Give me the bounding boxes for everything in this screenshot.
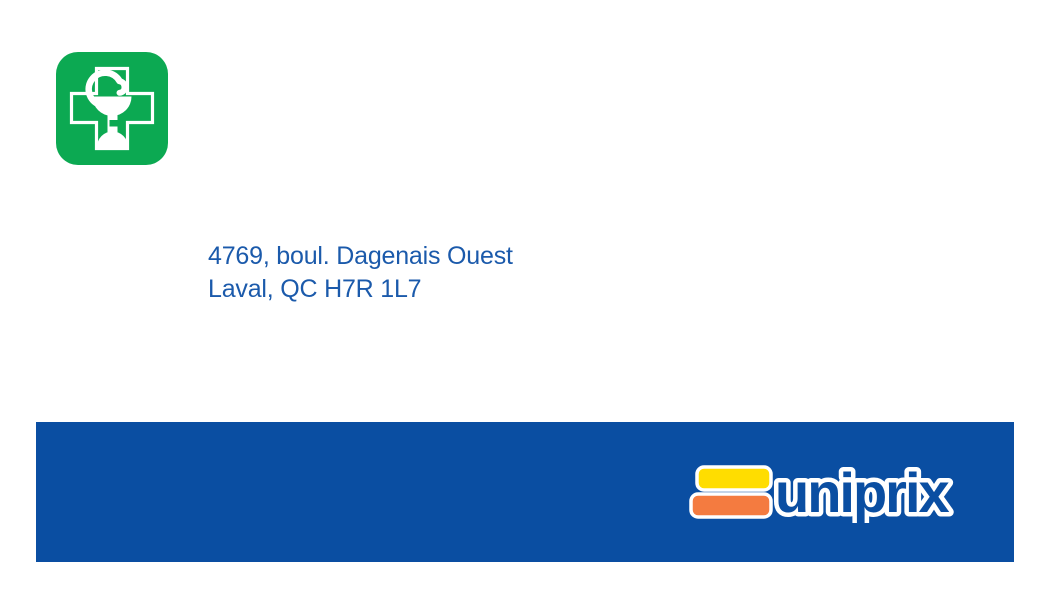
pharmacy-cross-bowl-of-hygieia-icon	[56, 52, 168, 165]
uniprix-wordmark-text: uniprix uniprix	[775, 461, 950, 523]
snake-head	[120, 81, 125, 93]
store-card-page: 4769, boul. Dagenais Ouest Laval, QC H7R…	[0, 0, 1050, 600]
address-line-street: 4769, boul. Dagenais Ouest	[208, 240, 513, 273]
uniprix-bar-yellow	[697, 467, 771, 490]
store-address: 4769, boul. Dagenais Ouest Laval, QC H7R…	[208, 240, 513, 305]
uniprix-logo: uniprix uniprix	[689, 461, 985, 523]
pedestal-base	[97, 132, 128, 148]
pharmacy-logo-svg	[56, 52, 168, 165]
svg-text:uniprix: uniprix	[775, 461, 950, 523]
uniprix-bar-orange	[691, 494, 771, 517]
brand-banner: uniprix uniprix	[36, 422, 1014, 562]
uniprix-wordmark-svg: uniprix uniprix	[689, 461, 985, 523]
snake-stem	[108, 114, 118, 133]
address-line-city: Laval, QC H7R 1L7	[208, 273, 513, 306]
